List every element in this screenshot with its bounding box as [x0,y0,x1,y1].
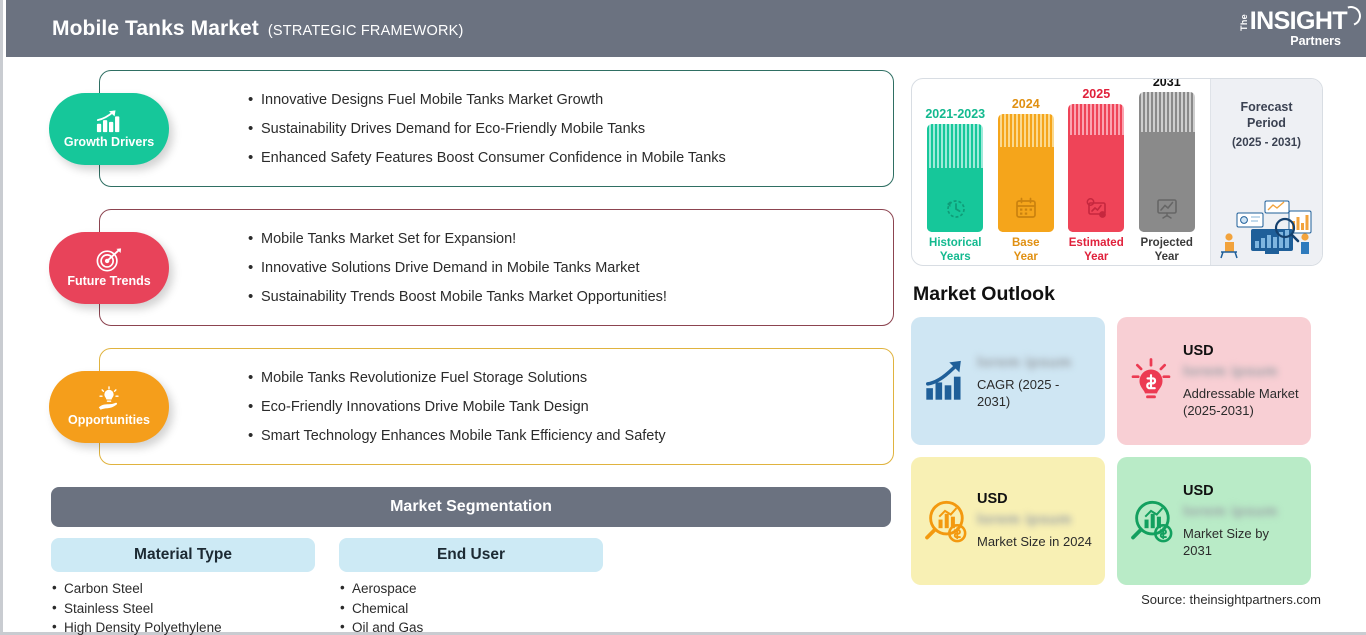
bar-caption: Projected Year [1141,237,1193,265]
card-market-size-2031: USD lorem ipsum Market Size by 2031 [1117,457,1311,585]
card-text: USD lorem ipsum Market Size in 2024 [977,491,1092,550]
future-trends-badge[interactable]: Future Trends [49,232,169,304]
infographic-page: Mobile Tanks Market (STRATEGIC FRAMEWORK… [0,0,1366,635]
timeline-bars: 2021-2023 Historical Years [912,79,1210,265]
page-header: Mobile Tanks Market (STRATEGIC FRAMEWORK… [6,0,1366,57]
logo-top-row: The INSIGHT [1236,9,1347,34]
business-analytics-illustration [1215,197,1319,259]
timeline-chart: 2021-2023 Historical Years [911,78,1323,266]
bar-caption-line2: Year [1084,251,1108,263]
bar-caption: Base Year [1012,237,1040,265]
segmentation-columns: Material Type Carbon Steel Stainless Ste… [51,538,891,635]
future-trends-box: Mobile Tanks Market Set for Expansion! I… [99,209,894,326]
card-value: lorem ipsum [1183,363,1300,380]
lightbulb-dollar-icon [1128,358,1174,404]
bullet-item: Smart Technology Enhances Mobile Tank Ef… [248,428,875,444]
badge-label: Opportunities [68,413,150,427]
card-value: lorem ipsum [1183,503,1300,520]
card-currency: USD [977,491,1092,507]
logo-insight-text: INSIGHT [1250,9,1347,34]
calendar-icon [1013,196,1038,220]
bullet-item: Mobile Tanks Market Set for Expansion! [248,231,875,247]
bullet-item: Mobile Tanks Revolutionize Fuel Storage … [248,370,875,386]
market-segmentation: Market Segmentation Material Type Carbon… [51,487,891,635]
segment-header: Material Type [51,538,315,572]
magnifier-chart-dollar-icon [922,498,968,544]
bullet-item: Eco-Friendly Innovations Drive Mobile Ta… [248,399,875,415]
list-item: Stainless Steel [51,601,315,616]
list-item: Aerospace [339,581,603,596]
card-market-size-2024: USD lorem ipsum Market Size in 2024 [911,457,1105,585]
bar-caption-line1: Historical [929,237,981,249]
presentation-chart-icon [1154,196,1179,220]
header-title-group: Mobile Tanks Market (STRATEGIC FRAMEWORK… [52,17,464,41]
bar-caption: Estimated Year [1069,237,1124,265]
list-item: High Density Polyethylene [51,620,315,635]
right-column: 2021-2023 Historical Years [911,78,1323,607]
opportunities-badge[interactable]: Opportunities [49,371,169,443]
card-value: lorem ipsum [977,511,1092,528]
bar-caption-line2: Year [1155,251,1179,263]
bar-body [998,114,1054,232]
timeline-bar-base: 2024 Base Year [993,97,1059,265]
market-outlook-title: Market Outlook [913,283,1323,306]
outlook-cards: lorem ipsum CAGR (2025 - 2031) USD lor [911,317,1323,585]
timeline-bar-projected: 2031 Projected Year [1134,78,1200,265]
card-cagr: lorem ipsum CAGR (2025 - 2031) [911,317,1105,445]
bar-caption-line1: Base [1012,237,1040,249]
logo-partners-text: Partners [1290,35,1341,48]
bar-chart-arrow-up-icon [94,108,124,134]
forecast-line2: Period [1247,115,1286,131]
card-text: USD lorem ipsum Addressable Market (2025… [1183,343,1300,420]
forecast-line1: Forecast [1240,99,1292,115]
list-item: Chemical [339,601,603,616]
bar-year-label: 2021-2023 [925,107,985,121]
timeline-bar-historical: 2021-2023 Historical Years [922,107,988,265]
opportunities-box: Mobile Tanks Revolutionize Fuel Storage … [99,348,894,465]
badge-label: Growth Drivers [64,135,154,149]
list-item: Oil and Gas [339,620,603,635]
bar-year-label: 2025 [1082,87,1110,101]
left-column: Innovative Designs Fuel Mobile Tanks Mar… [49,70,894,635]
card-value: lorem ipsum [977,354,1094,371]
analytics-gear-icon [1084,196,1109,220]
magnifier-chart-dollar-icon [1128,498,1174,544]
growth-drivers-badge[interactable]: Growth Drivers [49,93,169,165]
bullet-item: Innovative Designs Fuel Mobile Tanks Mar… [248,92,875,108]
card-label: Addressable Market (2025-2031) [1183,385,1300,420]
badge-label: Future Trends [67,274,150,288]
insight-partners-logo: The INSIGHT Partners [1236,9,1347,48]
card-text: USD lorem ipsum Market Size by 2031 [1183,483,1300,560]
bar-body [1139,92,1195,232]
bullet-item: Sustainability Drives Demand for Eco-Fri… [248,121,875,137]
segmentation-title: Market Segmentation [51,487,891,527]
page-subtitle: (STRATEGIC FRAMEWORK) [268,23,464,39]
logo-the-text: The [1240,14,1249,31]
section-future-trends: Mobile Tanks Market Set for Expansion! I… [49,209,894,326]
card-text: lorem ipsum CAGR (2025 - 2031) [977,352,1094,411]
bullet-item: Sustainability Trends Boost Mobile Tanks… [248,289,875,305]
bar-caption-line2: Year [1014,251,1038,263]
card-label: Market Size in 2024 [977,533,1092,550]
card-currency: USD [1183,343,1300,359]
card-label: CAGR (2025 - 2031) [977,376,1094,411]
segmentation-column-end-user: End User Aerospace Chemical Oil and Gas [339,538,603,635]
segmentation-column-material-type: Material Type Carbon Steel Stainless Ste… [51,538,315,635]
bar-caption-line1: Projected [1141,237,1193,249]
bar-body [927,124,983,232]
bar-year-label: 2024 [1012,97,1040,111]
bullet-item: Enhanced Safety Features Boost Consumer … [248,150,875,166]
bar-caption: Historical Years [929,237,981,265]
lightbulb-in-hand-icon [94,386,124,412]
clock-history-icon [943,196,968,220]
section-opportunities: Mobile Tanks Revolutionize Fuel Storage … [49,348,894,465]
target-dart-icon [94,247,124,273]
card-label: Market Size by 2031 [1183,525,1300,560]
timeline-bar-estimated: 2025 Estimated Year [1063,87,1129,265]
card-addressable-market: USD lorem ipsum Addressable Market (2025… [1117,317,1311,445]
bullet-item: Innovative Solutions Drive Demand in Mob… [248,260,875,276]
growth-drivers-box: Innovative Designs Fuel Mobile Tanks Mar… [99,70,894,187]
forecast-range: (2025 - 2031) [1232,137,1301,149]
bar-body [1068,104,1124,232]
bar-year-label: 2031 [1153,78,1181,89]
bar-chart-arrow-up-icon [922,358,968,404]
section-growth-drivers: Innovative Designs Fuel Mobile Tanks Mar… [49,70,894,187]
bar-caption-line1: Estimated [1069,237,1124,249]
page-title: Mobile Tanks Market [52,17,259,41]
list-item: Carbon Steel [51,581,315,596]
bar-caption-line2: Years [940,251,971,263]
source-attribution: Source: theinsightpartners.com [911,592,1323,607]
segment-header: End User [339,538,603,572]
forecast-period-panel: Forecast Period (2025 - 2031) [1210,79,1322,265]
card-currency: USD [1183,483,1300,499]
